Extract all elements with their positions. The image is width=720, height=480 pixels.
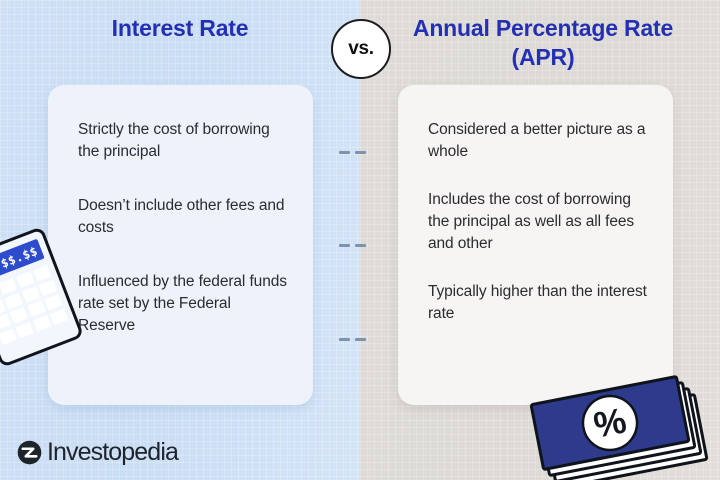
infographic-canvas: Interest Rate Annual Percentage Rate (AP… [0,0,720,480]
list-item: Considered a better picture as a whole [428,119,647,163]
left-comparison-card: Strictly the cost of borrowing the princ… [48,85,313,405]
dash-mark [339,151,350,154]
dash-mark [339,338,350,341]
connector-dashes-3 [339,338,366,341]
calculator-key [50,308,68,325]
left-column-title: Interest Rate [30,14,330,43]
dash-mark [355,338,366,341]
calculator-key [33,265,51,282]
money-stack-percent-icon: % [528,368,713,480]
investopedia-logo-icon [16,439,43,466]
calculator-key [16,271,34,288]
right-column-title: Annual Percentage Rate (APR) [398,14,688,73]
investopedia-wordmark: Investopedia [47,440,178,465]
list-item: Influenced by the federal funds rate set… [78,271,287,337]
calculator-key [0,328,17,345]
investopedia-logo: Investopedia [16,439,178,466]
list-item: Strictly the cost of borrowing the princ… [78,119,287,163]
right-comparison-card: Considered a better picture as a whole I… [398,85,673,405]
calculator-key [22,286,40,303]
calculator-key [39,279,57,296]
connector-dashes-1 [339,151,366,154]
calculator-key [0,278,17,295]
calculator-keypad [0,265,68,345]
calculator-key [0,314,11,331]
list-item: Typically higher than the interest rate [428,281,647,325]
list-item: Includes the cost of borrowing the princ… [428,189,647,255]
dash-mark [355,151,366,154]
versus-badge: vs. [331,19,391,79]
calculator-key [5,292,23,309]
list-item: Doesn’t include other fees and costs [78,195,287,239]
dash-mark [339,244,350,247]
calculator-key [27,300,45,317]
connector-dashes-2 [339,244,366,247]
calculator-key [44,294,62,311]
calculator-key [10,307,28,324]
calculator-key [16,321,34,338]
dash-mark [355,244,366,247]
calculator-key [33,315,51,332]
money-stack-svg: % [528,368,713,480]
